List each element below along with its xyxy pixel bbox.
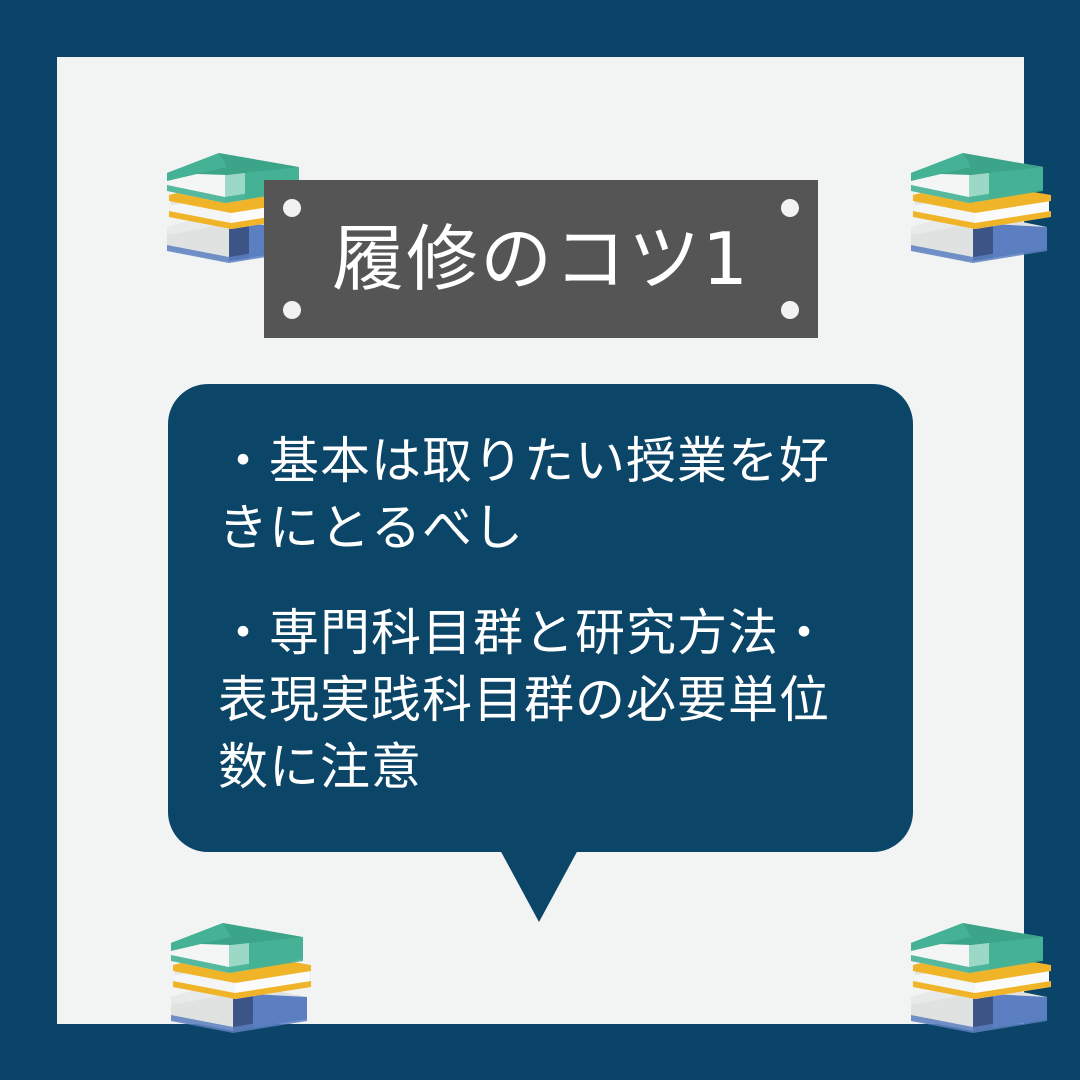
book-stack-icon xyxy=(157,915,317,1040)
tips-speech-bubble: ・基本は取りたい授業を好きにとるべし ・専門科目群と研究方法・表現実践科目群の必… xyxy=(168,384,913,852)
plaque-dot-top-left-icon xyxy=(283,199,301,217)
page-title: 履修のコツ1 xyxy=(264,223,818,295)
book-stack-icon xyxy=(897,915,1057,1040)
bullet-item-1: ・基本は取りたい授業を好きにとるべし xyxy=(218,428,877,562)
slide-canvas: 履修のコツ1 ・基本は取りたい授業を好きにとるべし ・専門科目群と研究方法・表現… xyxy=(0,0,1080,1080)
title-plaque: 履修のコツ1 xyxy=(264,180,818,338)
plaque-dot-bottom-right-icon xyxy=(781,301,799,319)
bullet-item-2: ・専門科目群と研究方法・表現実践科目群の必要単位数に注意 xyxy=(218,600,877,801)
plaque-dot-top-right-icon xyxy=(781,199,799,217)
book-stack-icon xyxy=(897,145,1057,270)
plaque-dot-bottom-left-icon xyxy=(283,301,301,319)
speech-bubble-tail xyxy=(499,848,579,922)
